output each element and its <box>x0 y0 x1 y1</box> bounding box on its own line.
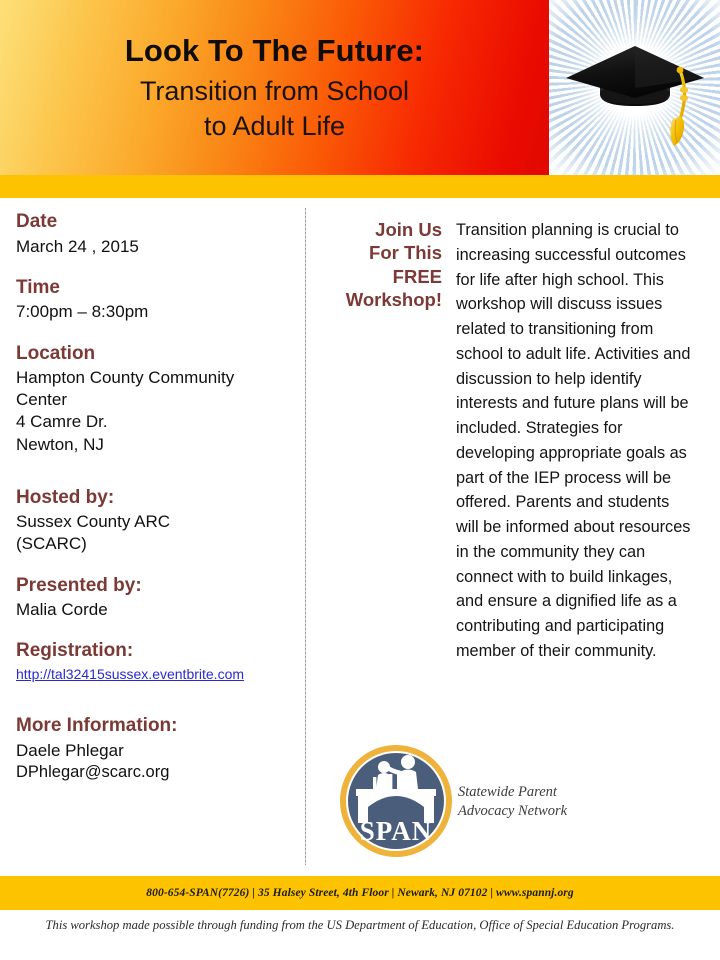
contact-name: Daele Phlegar <box>16 740 299 762</box>
hosted-by-block: Hosted by: Sussex County ARC (SCARC) <box>16 486 299 556</box>
hosted-by-line-1: Sussex County ARC <box>16 511 299 533</box>
flyer-page: Look To The Future: Transition from Scho… <box>0 0 720 960</box>
location-line-1: Hampton County Community <box>16 367 299 389</box>
location-block: Location Hampton County Community Center… <box>16 342 299 456</box>
spacer <box>16 474 299 486</box>
registration-link[interactable]: http://tal32415sussex.eventbrite.com <box>16 665 244 684</box>
details-column: Date March 24 , 2015 Time 7:00pm – 8:30p… <box>16 210 299 801</box>
presented-by-block: Presented by: Malia Corde <box>16 574 299 622</box>
location-line-2: Center <box>16 389 299 411</box>
registration-block: Registration: http://tal32415sussex.even… <box>16 639 299 684</box>
footer-contact-text: 800-654-SPAN(7726) | 35 Halsey Street, 4… <box>146 887 573 899</box>
header-gold-divider-bar <box>0 175 720 198</box>
span-tagline-line-2: Advocacy Network <box>458 802 588 821</box>
svg-text:SPAN: SPAN <box>360 816 433 846</box>
date-value: March 24 , 2015 <box>16 236 299 258</box>
more-information-label: More Information: <box>16 714 299 739</box>
hosted-by-line-2: (SCARC) <box>16 533 299 555</box>
join-us-line-3: FREE <box>330 265 442 288</box>
location-line-3: 4 Camre Dr. <box>16 411 299 433</box>
column-divider <box>305 208 306 865</box>
join-us-line-4: Workshop! <box>330 288 442 311</box>
span-logo-tagline: Statewide Parent Advocacy Network <box>458 783 588 821</box>
date-label: Date <box>16 210 299 235</box>
join-us-line-2: For This <box>330 241 442 264</box>
join-us-line-1: Join Us <box>330 218 442 241</box>
more-information-block: More Information: Daele Phlegar DPhlegar… <box>16 714 299 783</box>
time-block: Time 7:00pm – 8:30pm <box>16 276 299 324</box>
page-subtitle-line2: to Adult Life <box>140 109 409 145</box>
page-subtitle-line1: Transition from School <box>140 74 409 110</box>
starburst-panel <box>549 0 720 175</box>
span-tagline-line-1: Statewide Parent <box>458 783 588 802</box>
span-logo-mark-icon: SPAN <box>340 745 452 857</box>
footer-funding-note: This workshop made possible through fund… <box>0 918 720 933</box>
page-title: Look To The Future: <box>125 34 424 69</box>
hosted-by-label: Hosted by: <box>16 486 299 511</box>
page-subtitle: Transition from School to Adult Life <box>140 74 409 145</box>
presented-by-label: Presented by: <box>16 574 299 599</box>
time-value: 7:00pm – 8:30pm <box>16 301 299 323</box>
workshop-description: Transition planning is crucial to increa… <box>456 218 691 664</box>
presenter-name: Malia Corde <box>16 599 299 621</box>
contact-email: DPhlegar@scarc.org <box>16 762 299 783</box>
footer-contact-bar: 800-654-SPAN(7726) | 35 Halsey Street, 4… <box>0 876 720 910</box>
header-banner: Look To The Future: Transition from Scho… <box>0 0 720 175</box>
time-label: Time <box>16 276 299 301</box>
header-title-block: Look To The Future: Transition from Scho… <box>0 0 549 175</box>
location-label: Location <box>16 342 299 367</box>
spacer <box>16 702 299 714</box>
registration-label: Registration: <box>16 639 299 664</box>
date-block: Date March 24 , 2015 <box>16 210 299 258</box>
span-logo: SPAN Statewide Parent Advocacy Network <box>340 745 590 857</box>
graduation-cap-icon <box>560 28 710 148</box>
join-us-callout: Join Us For This FREE Workshop! <box>330 218 442 311</box>
location-line-4: Newton, NJ <box>16 434 299 456</box>
